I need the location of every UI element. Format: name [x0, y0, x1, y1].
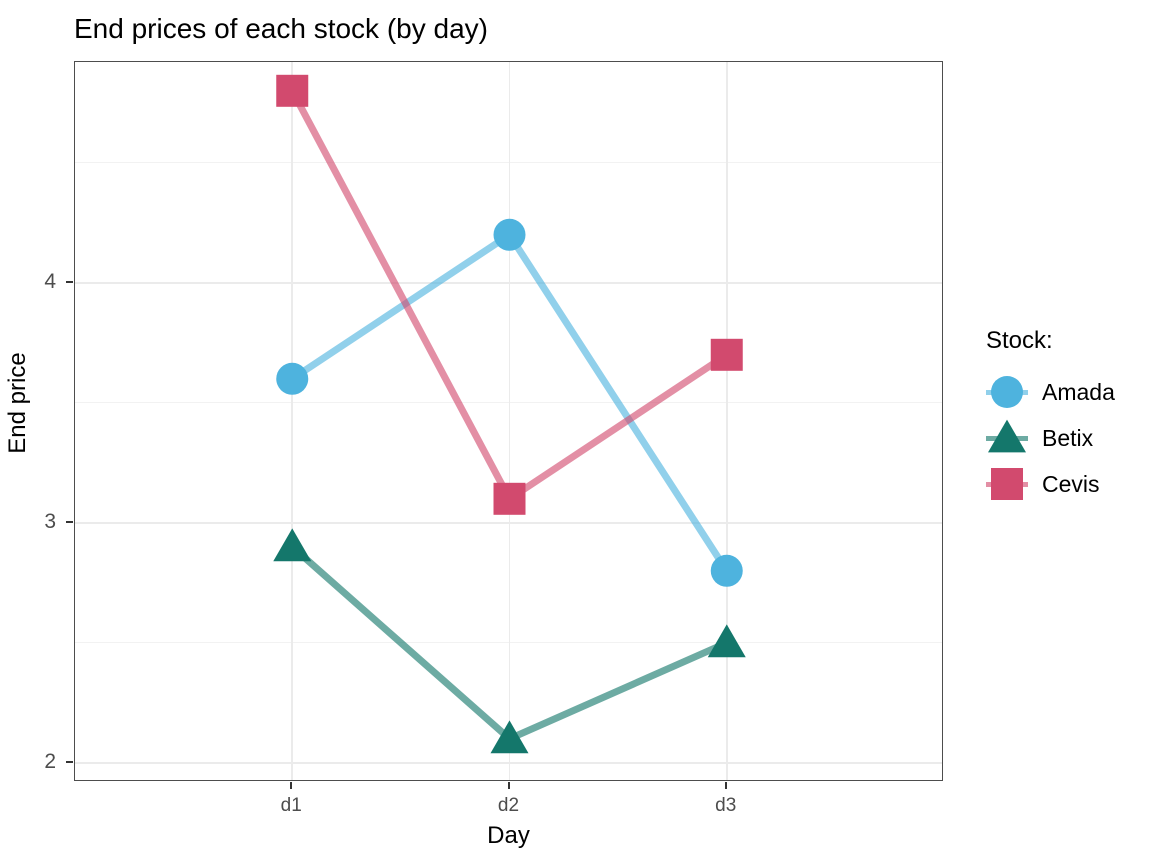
legend-key-circle-icon [984, 369, 1030, 415]
x-tick-label: d3 [676, 796, 776, 815]
x-tick-mark [725, 782, 727, 789]
series-line [292, 91, 727, 499]
chart-container: End prices of each stock (by day) 234d1d… [0, 0, 1152, 864]
legend-label: Betix [1042, 427, 1093, 450]
legend-item-betix[interactable]: Betix [984, 415, 1152, 461]
data-point-marker [494, 483, 526, 515]
y-axis-title: End price [4, 243, 32, 563]
x-tick-mark [290, 782, 292, 789]
series-line [292, 235, 727, 571]
series-betix [273, 528, 746, 753]
legend-label: Cevis [1042, 473, 1100, 496]
legend-label: Amada [1042, 381, 1115, 404]
legend-title: Stock: [986, 327, 1152, 355]
series-amada [276, 219, 743, 587]
plot-area [75, 62, 942, 780]
legend-marker [988, 420, 1026, 453]
legend-marker [991, 376, 1023, 408]
plot-panel [74, 61, 943, 781]
x-axis-title: Day [74, 822, 943, 850]
legend-glyph [984, 369, 1030, 415]
legend-glyph [984, 461, 1030, 507]
legend-entries: AmadaBetixCevis [984, 369, 1152, 507]
legend: Stock: AmadaBetixCevis [984, 327, 1152, 507]
legend-key-square-icon [984, 461, 1030, 507]
chart-title: End prices of each stock (by day) [74, 12, 488, 46]
data-point-marker [708, 624, 746, 657]
data-point-marker [273, 528, 311, 561]
series-cevis [276, 75, 743, 515]
legend-key-triangle-icon [984, 415, 1030, 461]
x-tick-label: d2 [459, 796, 559, 815]
x-tick-mark [508, 782, 510, 789]
y-tick-mark [66, 521, 73, 523]
legend-marker [991, 468, 1023, 500]
y-tick-mark [66, 761, 73, 763]
x-tick-label: d1 [241, 796, 341, 815]
data-point-marker [276, 75, 308, 107]
data-point-marker [711, 339, 743, 371]
data-point-marker [494, 219, 526, 251]
legend-glyph [984, 415, 1030, 461]
y-tick-label: 2 [0, 751, 56, 772]
data-point-marker [711, 555, 743, 587]
series-layer [75, 62, 942, 780]
series-line [292, 547, 727, 739]
legend-item-cevis[interactable]: Cevis [984, 461, 1152, 507]
legend-item-amada[interactable]: Amada [984, 369, 1152, 415]
data-point-marker [276, 363, 308, 395]
y-tick-mark [66, 281, 73, 283]
